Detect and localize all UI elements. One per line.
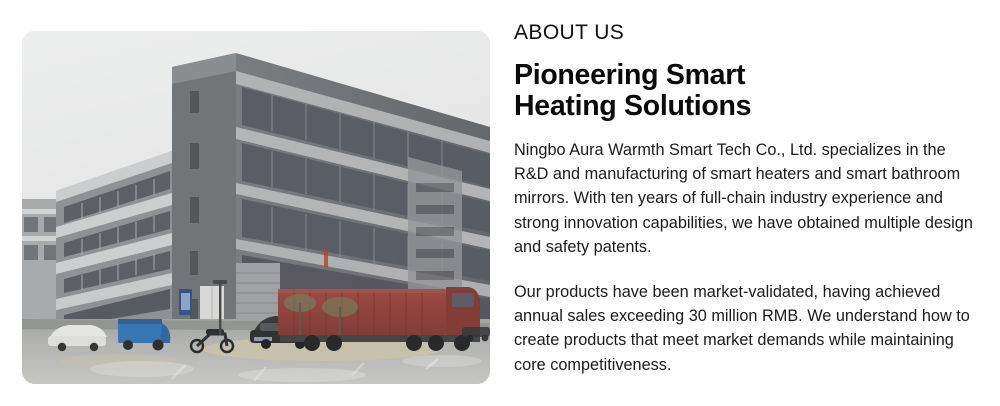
about-content: ABOUT US Pioneering Smart Heating Soluti… bbox=[514, 0, 984, 406]
about-us-section: ABOUT US Pioneering Smart Heating Soluti… bbox=[0, 0, 1000, 406]
about-paragraph-1: Ningbo Aura Warmth Smart Tech Co., Ltd. … bbox=[514, 138, 974, 259]
about-paragraphs: Ningbo Aura Warmth Smart Tech Co., Ltd. … bbox=[514, 138, 984, 377]
company-building-photo bbox=[22, 31, 490, 384]
building-photo-illustration bbox=[22, 31, 490, 384]
section-eyebrow: ABOUT US bbox=[514, 20, 984, 46]
page-title: Pioneering Smart Heating Solutions bbox=[514, 60, 844, 122]
about-paragraph-2: Our products have been market-validated,… bbox=[514, 280, 974, 377]
